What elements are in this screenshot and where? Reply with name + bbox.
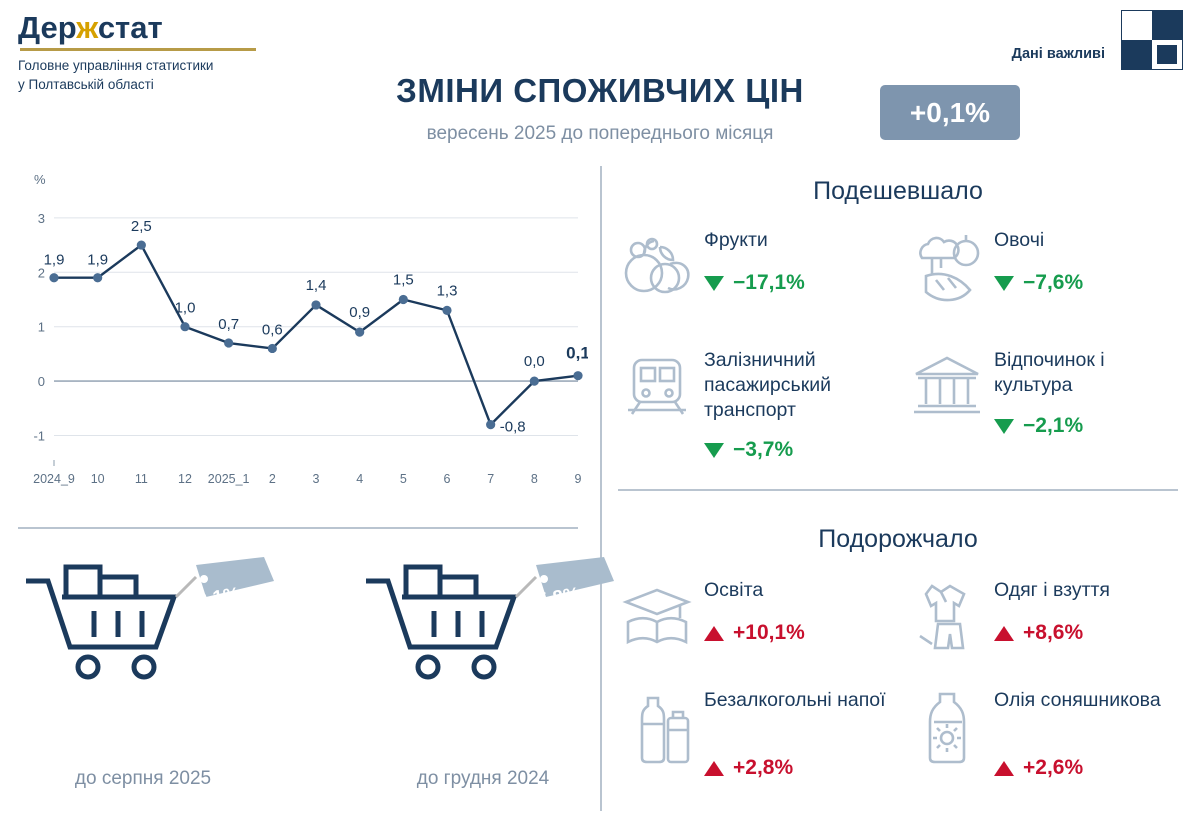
item-value-text-education: +10,1% <box>733 621 805 645</box>
clothing-icon <box>908 578 986 656</box>
chart-canvas: -101231,91,92,51,00,70,61,40,91,51,3-0,8… <box>18 172 588 512</box>
education-icon <box>618 578 696 656</box>
page-title: ЗМІНИ СПОЖИВЧИХ ЦІН <box>300 72 900 110</box>
cart-block-1: +0,1% до серпня 2025 <box>18 555 278 690</box>
item-value-text-vegetables: −7,6% <box>1023 271 1083 295</box>
svg-text:2024_9: 2024_9 <box>33 472 75 486</box>
right-horizontal-divider <box>618 489 1178 491</box>
arrow-down-icon <box>994 419 1014 434</box>
svg-text:-1: -1 <box>33 429 45 444</box>
logo-title-part-a: Дер <box>18 10 76 45</box>
logo-title-part-b: стат <box>98 10 163 45</box>
item-label-education: Освіта <box>704 578 894 603</box>
svg-text:1,9: 1,9 <box>87 252 108 269</box>
svg-text:12: 12 <box>178 472 192 486</box>
left-horizontal-divider <box>18 527 578 529</box>
logo-title-accent: ж <box>76 10 98 45</box>
logo-divider <box>20 48 256 51</box>
arrow-up-icon <box>704 626 724 641</box>
svg-text:1,5: 1,5 <box>393 271 414 288</box>
arrow-up-icon <box>994 761 1014 776</box>
svg-text:1,9: 1,9 <box>44 252 65 269</box>
item-label-sunflower-oil: Олія соняшникова <box>994 688 1184 713</box>
arrow-up-icon <box>704 761 724 776</box>
culture-icon <box>908 348 986 426</box>
item-value-text-sunflower-oil: +2,6% <box>1023 756 1083 780</box>
cart-block-2: +5,8% до грудня 2024 <box>358 555 618 690</box>
shopping-cart-icon <box>18 555 278 685</box>
arrow-down-icon <box>704 443 724 458</box>
svg-text:1,4: 1,4 <box>306 277 327 294</box>
svg-text:1,3: 1,3 <box>437 282 458 299</box>
vertical-divider <box>600 166 602 811</box>
svg-text:8: 8 <box>531 472 538 486</box>
svg-text:11: 11 <box>135 472 148 486</box>
shopping-cart-icon-2 <box>358 555 618 685</box>
svg-text:2: 2 <box>269 472 276 486</box>
item-value-fruits: −17,1% <box>704 271 805 295</box>
fruits-icon <box>618 228 696 306</box>
svg-text:10: 10 <box>91 472 105 486</box>
item-value-education: +10,1% <box>704 621 805 645</box>
arrow-down-icon <box>994 276 1014 291</box>
svg-text:1: 1 <box>38 320 45 335</box>
arrow-up-icon <box>994 626 1014 641</box>
item-value-culture: −2,1% <box>994 414 1083 438</box>
page-subtitle: вересень 2025 до попереднього місяця <box>300 123 900 145</box>
svg-text:0,0: 0,0 <box>524 353 545 370</box>
item-value-text-fruits: −17,1% <box>733 271 805 295</box>
logo-block: Держстат Головне управління статистики у… <box>18 10 268 94</box>
svg-text:2,5: 2,5 <box>131 218 152 235</box>
vegetables-icon <box>908 228 986 306</box>
svg-text:6: 6 <box>444 472 451 486</box>
item-label-rail-transport: Залізничний пасажирський транспорт <box>704 348 894 423</box>
section-title-dearer: Подорожчало <box>608 525 1188 554</box>
section-title-cheaper: Подешевшало <box>608 177 1188 206</box>
item-value-sunflower-oil: +2,6% <box>994 756 1083 780</box>
logo-subtitle-line1: Головне управління статистики <box>18 56 268 75</box>
train-icon <box>618 348 696 426</box>
arrow-down-icon <box>704 276 724 291</box>
svg-text:4: 4 <box>356 472 363 486</box>
data-important-label: Дані важливі <box>1012 46 1105 62</box>
item-value-text-soft-drinks: +2,8% <box>733 756 793 780</box>
svg-text:2025_1: 2025_1 <box>208 472 250 486</box>
drinks-icon <box>618 688 696 766</box>
logo-subtitle-line2: у Полтавській області <box>18 75 268 94</box>
item-value-clothing: +8,6% <box>994 621 1083 645</box>
svg-text:7: 7 <box>487 472 494 486</box>
item-value-soft-drinks: +2,8% <box>704 756 793 780</box>
svg-text:0,9: 0,9 <box>349 304 370 321</box>
item-label-soft-drinks: Безалкогольні напої <box>704 688 894 713</box>
svg-text:9: 9 <box>575 472 582 486</box>
svg-text:0,1: 0,1 <box>566 344 588 363</box>
item-value-text-clothing: +8,6% <box>1023 621 1083 645</box>
headline-badge: +0,1% <box>880 85 1020 140</box>
cpi-line-chart: % -101231,91,92,51,00,70,61,40,91,51,3-0… <box>18 172 588 512</box>
infographic-page: Держстат Головне управління статистики у… <box>0 0 1200 831</box>
item-label-fruits: Фрукти <box>704 228 894 253</box>
flag-icon <box>1121 10 1183 70</box>
svg-text:0,6: 0,6 <box>262 321 283 338</box>
item-value-rail-transport: −3,7% <box>704 438 793 462</box>
svg-text:3: 3 <box>38 211 45 226</box>
item-value-vegetables: −7,6% <box>994 271 1083 295</box>
item-label-clothing: Одяг і взуття <box>994 578 1184 603</box>
oil-icon <box>908 688 986 766</box>
svg-text:3: 3 <box>313 472 320 486</box>
item-value-text-rail-transport: −3,7% <box>733 438 793 462</box>
item-label-culture: Відпочинок і культура <box>994 348 1184 398</box>
svg-text:-0,8: -0,8 <box>500 419 526 436</box>
cart-caption-1: до серпня 2025 <box>18 768 268 790</box>
svg-text:0: 0 <box>38 374 45 389</box>
item-value-text-culture: −2,1% <box>1023 414 1083 438</box>
item-label-vegetables: Овочі <box>994 228 1184 253</box>
svg-text:1,0: 1,0 <box>175 300 196 317</box>
svg-text:5: 5 <box>400 472 407 486</box>
logo-title: Держстат <box>18 10 268 46</box>
svg-text:0,7: 0,7 <box>218 316 239 333</box>
cart-caption-2: до грудня 2024 <box>358 768 608 790</box>
